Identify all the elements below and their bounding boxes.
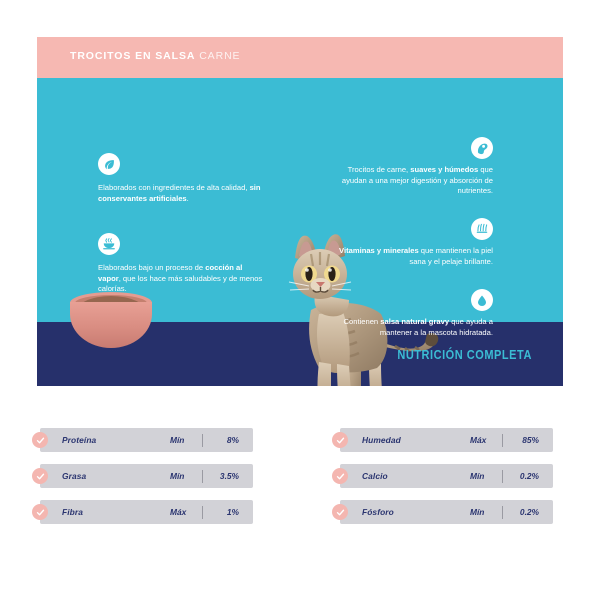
nutrient-value: 85% [511, 435, 539, 445]
row-divider [502, 470, 503, 483]
nutrient-values: Mín8% [170, 434, 253, 447]
food-bowl-image [68, 288, 154, 352]
check-badge [32, 468, 48, 484]
nutrient-name: Fibra [62, 507, 83, 517]
product-title-variant: CARNE [199, 50, 240, 62]
nutrient-qualifier: Mín [470, 471, 500, 481]
hero-banner: TROCITOS EN SALSA CARNE [37, 37, 563, 386]
nutrition-row: FibraMáx1% [40, 500, 253, 524]
nutrient-values: Mín0.2% [470, 506, 553, 519]
check-icon [336, 436, 345, 445]
row-divider [202, 506, 203, 519]
nutrient-qualifier: Mín [170, 435, 200, 445]
check-icon [336, 472, 345, 481]
nutrient-value: 0.2% [511, 471, 539, 481]
feature-left-2-text: Elaborados bajo un proceso de cocción al… [98, 263, 266, 295]
row-divider [502, 506, 503, 519]
check-badge [32, 504, 48, 520]
nutrient-name: Calcio [362, 471, 388, 481]
nutrition-row: HumedadMáx85% [340, 428, 553, 452]
check-icon [36, 436, 45, 445]
check-badge [32, 432, 48, 448]
check-icon [36, 508, 45, 517]
nutrient-name: Proteína [62, 435, 96, 445]
nutrient-values: Máx85% [470, 434, 553, 447]
nutrition-table-left: ProteínaMín8%GrasaMín3.5%FibraMáx1% [40, 428, 253, 536]
water-drop-icon [471, 289, 493, 311]
nutrition-row: GrasaMín3.5% [40, 464, 253, 488]
nutrient-value: 8% [211, 435, 239, 445]
nutrient-name: Grasa [62, 471, 86, 481]
nutrient-qualifier: Mín [170, 471, 200, 481]
nutrition-row: FósforoMín0.2% [340, 500, 553, 524]
nutrient-name: Humedad [362, 435, 401, 445]
meat-chunk-icon [471, 137, 493, 159]
nutrient-name: Fósforo [362, 507, 394, 517]
check-icon [36, 472, 45, 481]
leaf-icon [98, 153, 120, 175]
complete-nutrition-label: NUTRICIÓN COMPLETA [397, 348, 532, 362]
product-detail-page: TROCITOS EN SALSA CARNE [0, 0, 600, 600]
nutrition-row: ProteínaMín8% [40, 428, 253, 452]
nutrient-qualifier: Máx [470, 435, 500, 445]
nutrient-value: 1% [211, 507, 239, 517]
nutrient-qualifier: Máx [170, 507, 200, 517]
nutrition-table-right: HumedadMáx85%CalcioMín0.2%FósforoMín0.2% [340, 428, 553, 536]
fur-coat-icon [471, 218, 493, 240]
check-badge [332, 468, 348, 484]
check-badge [332, 504, 348, 520]
nutrient-values: Mín3.5% [170, 470, 253, 483]
feature-right-1-text: Trocitos de carne, suaves y húmedos que … [325, 165, 493, 197]
bowl-body [70, 302, 152, 348]
feature-left-1-text: Elaborados con ingredientes de alta cali… [98, 183, 266, 204]
check-icon [336, 508, 345, 517]
nutrient-value: 0.2% [511, 507, 539, 517]
nutrient-values: Mín0.2% [470, 470, 553, 483]
nutrient-qualifier: Mín [470, 507, 500, 517]
check-badge [332, 432, 348, 448]
product-title: TROCITOS EN SALSA CARNE [70, 50, 240, 62]
row-divider [202, 434, 203, 447]
feature-right-3-text: Contienen salsa natural gravy que ayuda … [325, 317, 493, 338]
feature-right-2-text: Vitaminas y minerales que mantienen la p… [325, 246, 493, 267]
steaming-pot-icon [98, 233, 120, 255]
row-divider [502, 434, 503, 447]
product-title-strong: TROCITOS EN SALSA [70, 50, 195, 62]
nutrient-value: 3.5% [211, 471, 239, 481]
nutrient-values: Máx1% [170, 506, 253, 519]
nutrition-row: CalcioMín0.2% [340, 464, 553, 488]
row-divider [202, 470, 203, 483]
